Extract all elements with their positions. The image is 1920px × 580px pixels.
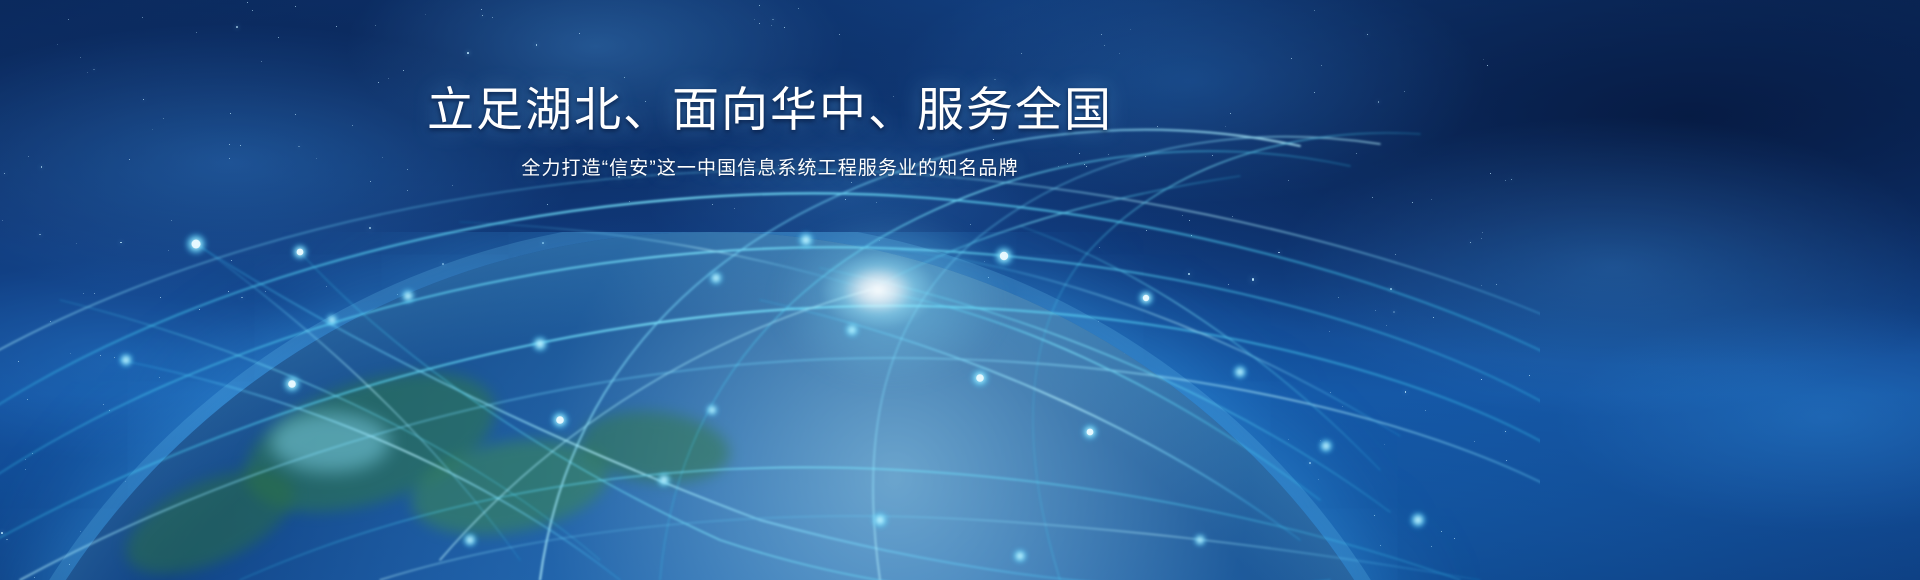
light-burst bbox=[768, 200, 988, 380]
page-subtitle: 全力打造“信安”这一中国信息系统工程服务业的知名品牌 bbox=[0, 155, 1540, 184]
hero-banner: 立足湖北、面向华中、服务全国 全力打造“信安”这一中国信息系统工程服务业的知名品… bbox=[0, 0, 1920, 580]
page-title: 立足湖北、面向华中、服务全国 bbox=[0, 82, 1540, 137]
banner-copy: 立足湖北、面向华中、服务全国 全力打造“信安”这一中国信息系统工程服务业的知名品… bbox=[0, 0, 1540, 184]
